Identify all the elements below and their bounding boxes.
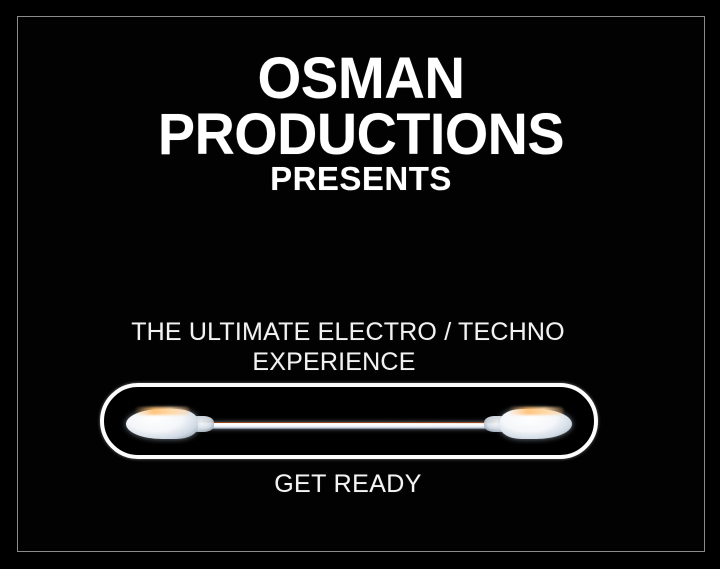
tagline-line-2: EXPERIENCE: [18, 347, 678, 377]
video-stage: OSMAN PRODUCTIONS PRESENTS THE ULTIMATE …: [18, 17, 704, 551]
call-to-action-text: GET READY: [18, 469, 678, 499]
page-title-presents: PRESENTS: [18, 162, 704, 195]
page-title-line-1: OSMAN: [28, 50, 693, 108]
tagline-line-1: THE ULTIMATE ELECTRO / TECHNO: [18, 317, 678, 347]
title-card-screen: OSMAN PRODUCTIONS PRESENTS THE ULTIMATE …: [0, 0, 720, 569]
swab-tip-glow-right: [508, 407, 564, 415]
media-panel: [100, 383, 598, 459]
swab-tip-glow-left: [134, 407, 190, 415]
page-title-line-2: PRODUCTIONS: [32, 106, 691, 164]
tagline: THE ULTIMATE ELECTRO / TECHNO EXPERIENCE: [18, 317, 678, 377]
cotton-swab-icon: [104, 387, 594, 455]
